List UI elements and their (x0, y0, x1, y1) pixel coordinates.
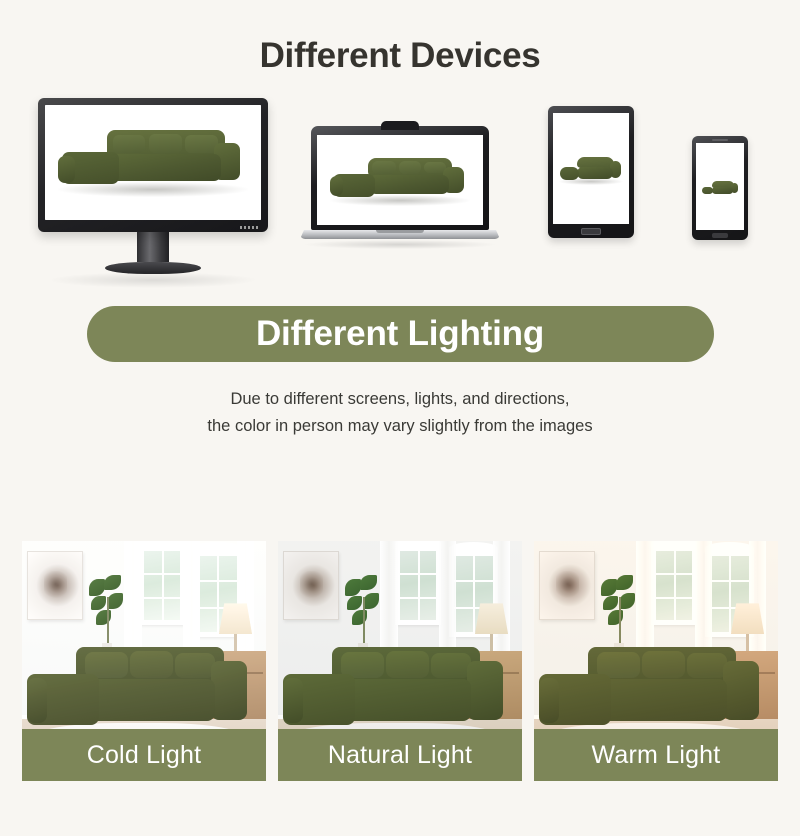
laptop-base (300, 230, 500, 239)
phone-body (692, 136, 748, 240)
lighting-note: Due to different screens, lights, and di… (0, 386, 800, 439)
sectional-sofa (539, 647, 763, 738)
potted-plant-icon (344, 575, 383, 657)
photo-label-text: Natural Light (328, 741, 472, 770)
tablet-screen (553, 113, 629, 224)
lighting-photos-row: Cold Light (22, 541, 778, 781)
laptop-shadow (305, 240, 495, 249)
phone-screen (696, 143, 744, 230)
photo-label-cold: Cold Light (22, 729, 266, 781)
product-image-tablet (553, 113, 629, 224)
monitor-screen (45, 105, 261, 220)
monitor-neck (137, 232, 169, 262)
lighting-banner: Different Lighting (87, 306, 714, 362)
product-image-phone (696, 143, 744, 230)
phone-speaker-icon (712, 139, 728, 141)
photo-label-text: Warm Light (592, 741, 721, 770)
monitor-indicator-leds (240, 226, 258, 229)
laptop-screen (317, 135, 483, 225)
photo-label-text: Cold Light (87, 741, 202, 770)
page-title: Different Devices (0, 36, 800, 76)
phone-home-button[interactable] (712, 233, 728, 238)
monitor-shadow (48, 272, 258, 288)
photo-label-natural: Natural Light (278, 729, 522, 781)
monitor-bezel (38, 98, 268, 232)
potted-plant-icon (600, 575, 639, 657)
wall-art-icon (539, 551, 595, 621)
wall-art-icon (283, 551, 339, 621)
tablet-home-button[interactable] (581, 228, 601, 235)
sectional-sofa (27, 647, 251, 738)
device-desktop-monitor (38, 98, 268, 274)
sectional-sofa (283, 647, 507, 738)
device-laptop (300, 126, 500, 249)
devices-row (0, 98, 800, 288)
device-tablet (548, 106, 634, 238)
product-image-laptop (317, 135, 483, 225)
laptop-camera-icon (381, 121, 419, 130)
lighting-photo-natural[interactable]: Natural Light (278, 541, 522, 781)
potted-plant-icon (88, 575, 127, 657)
device-smartphone (692, 136, 748, 240)
laptop-trackpad-notch (376, 230, 424, 233)
photo-label-warm: Warm Light (534, 729, 778, 781)
tablet-body (548, 106, 634, 238)
lighting-banner-label: Different Lighting (256, 314, 544, 354)
wall-art-icon (27, 551, 83, 621)
product-image-monitor (45, 105, 261, 220)
lighting-photo-warm[interactable]: Warm Light (534, 541, 778, 781)
lighting-note-line-2: the color in person may vary slightly fr… (0, 413, 800, 440)
lighting-note-line-1: Due to different screens, lights, and di… (0, 386, 800, 413)
lighting-photo-cold[interactable]: Cold Light (22, 541, 266, 781)
laptop-lid (311, 126, 489, 230)
